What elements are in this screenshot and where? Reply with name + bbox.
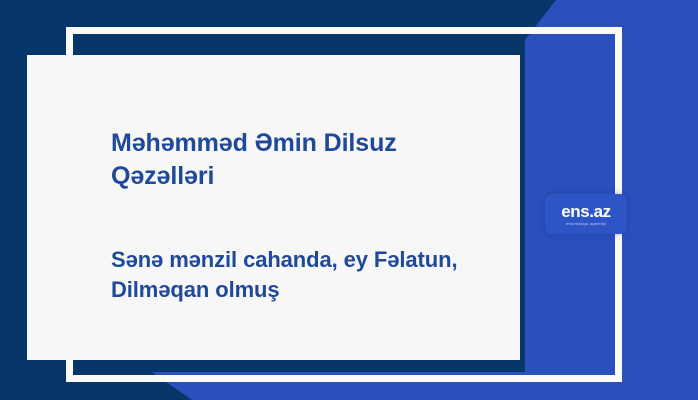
logo-wordmark: ens.az — [561, 203, 611, 220]
ens-az-logo-badge[interactable]: ens.az informasiya agentliyi — [545, 194, 627, 234]
logo-tagline: informasiya agentliyi — [566, 222, 606, 226]
card-text-block: Məhəmməd Əmin Dilsuz Qəzəlləri Sənə mənz… — [111, 127, 496, 305]
content-card: Məhəmməd Əmin Dilsuz Qəzəlləri Sənə mənz… — [27, 55, 520, 360]
poster-canvas: Məhəmməd Əmin Dilsuz Qəzəlləri Sənə mənz… — [0, 0, 698, 400]
page-title: Məhəmməd Əmin Dilsuz Qəzəlləri — [111, 127, 496, 194]
poster-subtitle: Sənə mənzil cahanda, ey Fəlatun, Dilməqa… — [111, 245, 496, 306]
